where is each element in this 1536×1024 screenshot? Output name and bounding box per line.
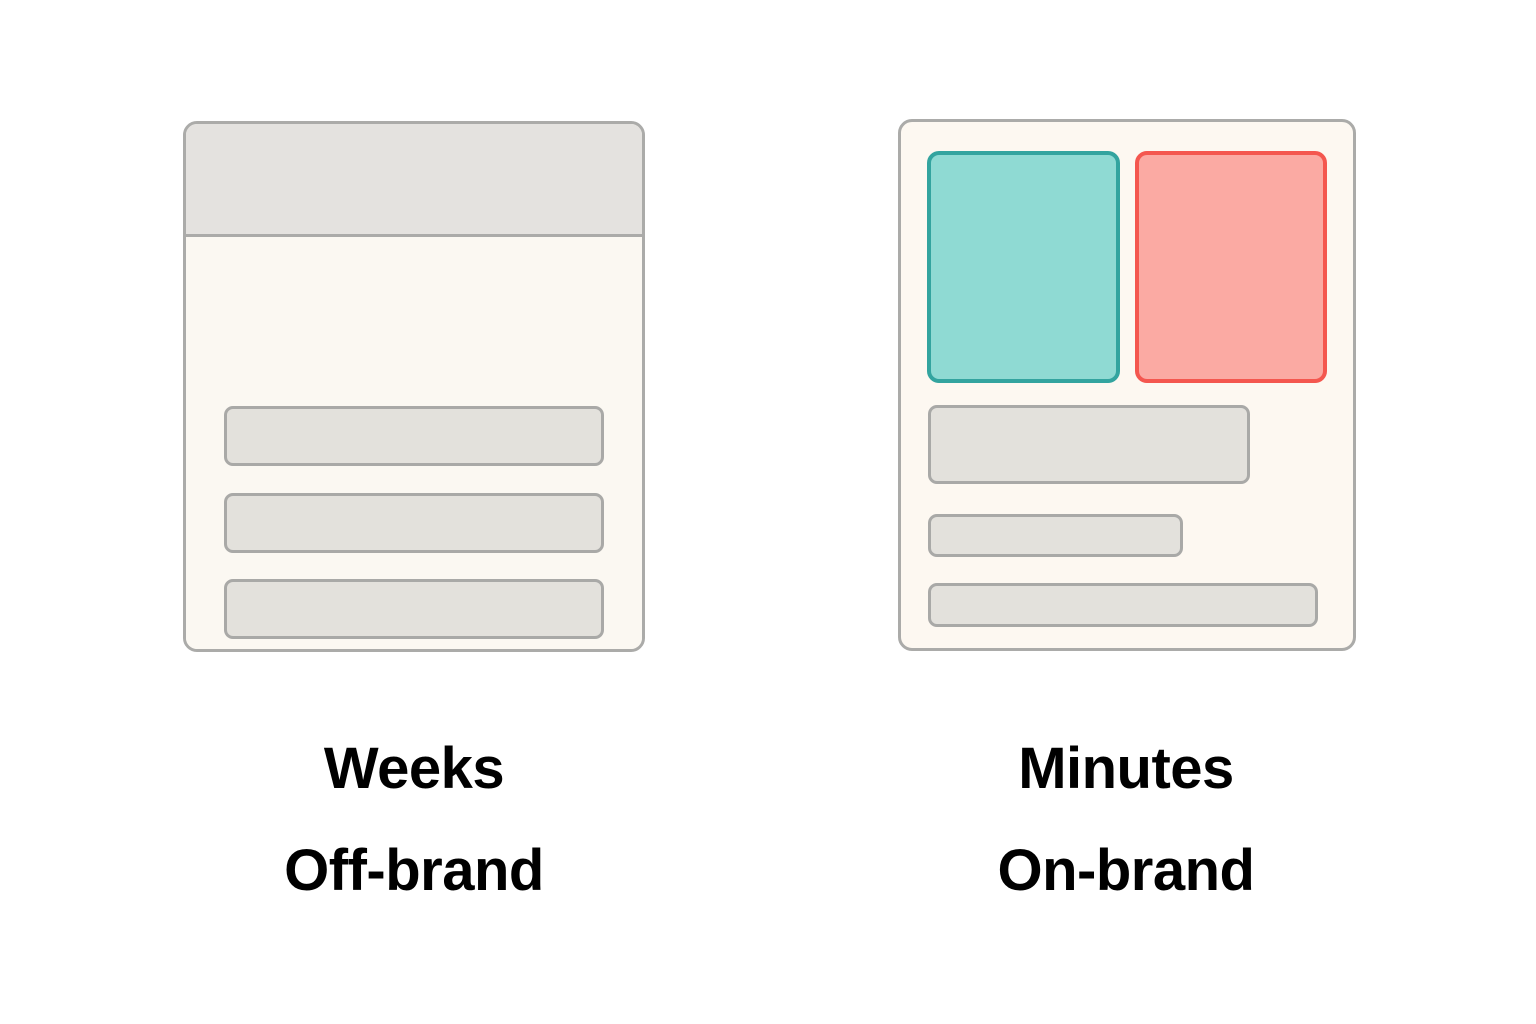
off-brand-caption-primary: Weeks: [164, 740, 664, 798]
content-bar-2: [224, 493, 604, 553]
off-brand-caption: Weeks Off-brand: [164, 740, 664, 900]
on-brand-mockup-card: [898, 119, 1356, 651]
comparison-stage: Weeks Off-brand Minutes On-brand: [0, 0, 1536, 1024]
content-block-wide: [928, 583, 1318, 627]
on-brand-caption: Minutes On-brand: [876, 740, 1376, 900]
brand-tile-teal: [927, 151, 1120, 383]
content-bar-1: [224, 406, 604, 466]
content-bar-3: [224, 579, 604, 639]
title-bar: [186, 124, 642, 237]
brand-tile-coral: [1135, 151, 1327, 383]
on-brand-caption-primary: Minutes: [876, 740, 1376, 798]
on-brand-caption-secondary: On-brand: [876, 842, 1376, 900]
off-brand-caption-secondary: Off-brand: [164, 842, 664, 900]
off-brand-mockup-card: [183, 121, 645, 652]
card-body: [186, 237, 642, 649]
content-block-large: [928, 405, 1250, 484]
content-block-medium: [928, 514, 1183, 557]
